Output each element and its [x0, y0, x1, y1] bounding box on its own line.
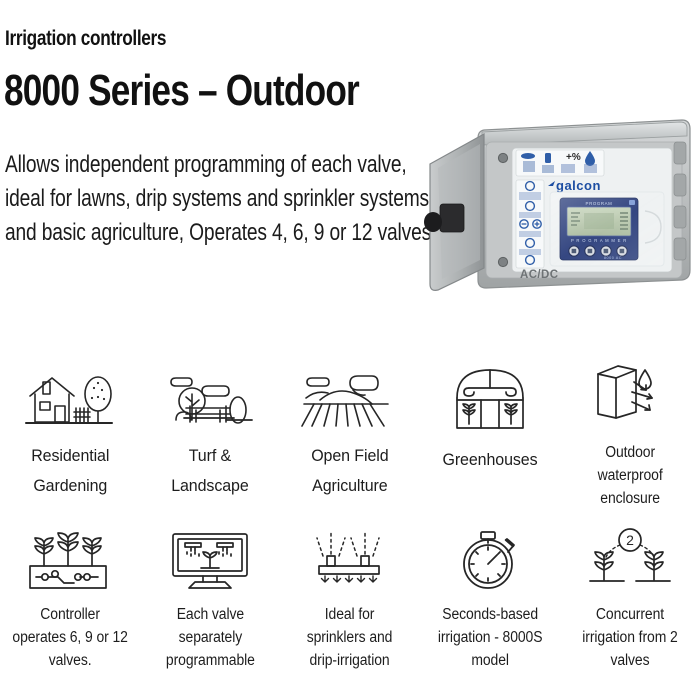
monitor-sprinkler-icon: [165, 522, 255, 594]
feature-sprinkler-drip: Ideal for sprinklers and drip-irrigation: [280, 522, 420, 672]
feature-label: Outdoor waterproof enclosure: [597, 441, 662, 510]
feature-seconds-based-irrigation: Seconds-based irrigation - 8000S model: [420, 522, 560, 672]
brand-logo: galcon: [548, 178, 601, 193]
feature-label: Controller operates 6, 9 or 12 valves.: [12, 603, 127, 672]
park-bench-tree-icon: [162, 360, 258, 432]
feature-residential-gardening: Residential Gardening: [0, 360, 140, 501]
feature-valve-programmable: Each valve separately programmable: [140, 522, 280, 672]
page-title: 8000 Series – Outdoor: [4, 66, 359, 116]
feature-open-field-agriculture: Open Field Agriculture: [280, 360, 420, 501]
product-image: +% galcon: [424, 112, 696, 294]
feature-controller-valves: Controller operates 6, 9 or 12 valves.: [0, 522, 140, 672]
feature-row-applications: Residential Gardening Turf & Landscape: [0, 360, 700, 510]
feature-turf-landscape: Turf & Landscape: [140, 360, 280, 501]
waterproof-box-icon: [588, 360, 672, 432]
feature-label: Each valve separately programmable: [166, 603, 255, 672]
power-type-label: AC/DC: [520, 269, 558, 281]
house-garden-icon: [22, 360, 118, 432]
transparent-cover: [550, 192, 664, 266]
svg-text:galcon: galcon: [556, 178, 601, 193]
svg-text:+%: +%: [566, 152, 581, 163]
door-cable-port: [440, 204, 464, 232]
feature-greenhouses: Greenhouses: [420, 360, 560, 475]
pictogram-strip: +%: [516, 150, 604, 176]
feature-label: Turf & Landscape: [171, 441, 248, 501]
feature-label: Greenhouses: [442, 445, 537, 475]
feature-label: Seconds-based irrigation - 8000S model: [438, 603, 543, 672]
product-description: Allows independent programming of each v…: [5, 148, 437, 250]
product-info-page: Irrigation controllers 8000 Series – Out…: [0, 0, 700, 700]
feature-row-capabilities: Controller operates 6, 9 or 12 valves.: [0, 522, 700, 672]
feature-label: Concurrent irrigation from 2 valves: [582, 603, 677, 672]
function-button-column[interactable]: [516, 180, 544, 268]
eyebrow-category: Irrigation controllers: [5, 27, 166, 51]
sprinkler-drip-icon: [305, 522, 395, 594]
stopwatch-icon: [450, 522, 530, 594]
cable-gland-knob: [424, 212, 442, 232]
feature-waterproof-enclosure: Outdoor waterproof enclosure: [560, 360, 700, 510]
open-field-icon: [300, 360, 400, 432]
feature-concurrent-irrigation: 2 Concurrent irrigation from 2 valves: [560, 522, 700, 672]
feature-label: Ideal for sprinklers and drip-irrigation: [307, 603, 393, 672]
svg-text:2: 2: [626, 532, 634, 548]
two-valves-plants-icon: 2: [584, 522, 676, 594]
feature-label: Residential Gardening: [31, 441, 109, 501]
feature-label: Open Field Agriculture: [311, 441, 388, 501]
greenhouse-icon: [447, 360, 533, 436]
valve-manifold-plants-icon: [22, 522, 118, 594]
